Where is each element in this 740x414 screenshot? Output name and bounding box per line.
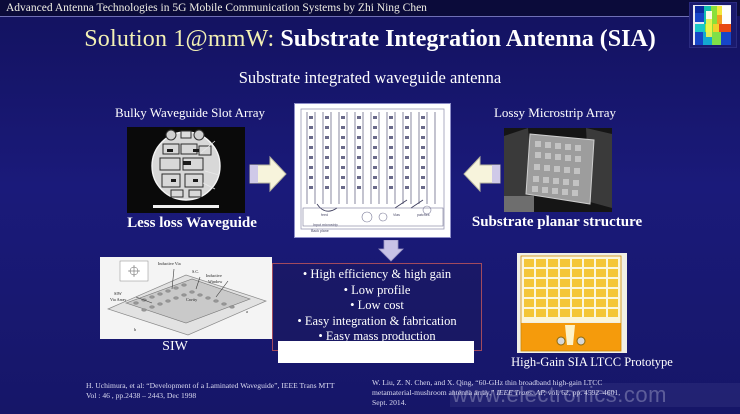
- svg-text:SIW: SIW: [114, 291, 122, 296]
- svg-text:feed: feed: [321, 213, 328, 217]
- page-title: Solution 1@mmW: Substrate Integration An…: [0, 26, 740, 53]
- caption-lossy-microstrip: Lossy Microstrip Array: [440, 105, 670, 121]
- white-placeholder-bar: [278, 341, 474, 363]
- watermark: www.electronics.com: [452, 382, 740, 408]
- svg-text:Cavity: Cavity: [186, 297, 198, 302]
- caption-less-loss-waveguide: Less loss Waveguide: [72, 215, 312, 232]
- image-siw-3d-diagram: Inductive Via SIW Via Array Inductive Wi…: [100, 257, 272, 339]
- svg-text:Inductive: Inductive: [206, 273, 222, 278]
- title-part-solution: Solution 1@mmW:: [84, 26, 274, 52]
- svg-text:Window: Window: [208, 279, 222, 284]
- caption-ltcc-prototype: High-Gain SIA LTCC Prototype: [482, 355, 702, 370]
- subtitle: Substrate integrated waveguide antenna: [0, 68, 740, 88]
- caption-bulky-waveguide: Bulky Waveguide Slot Array: [75, 105, 305, 121]
- image-siw-antenna-layout: feed Input microstrip Back plane Vias pa…: [294, 103, 451, 238]
- svg-text:Input microstrip: Input microstrip: [313, 223, 338, 227]
- svg-text:S.C.: S.C.: [192, 269, 199, 274]
- image-ltcc-prototype: [517, 253, 627, 353]
- arrow-left-icon: [462, 155, 502, 198]
- list-item: Low cost: [273, 298, 481, 314]
- svg-text:b: b: [134, 327, 136, 332]
- svg-text:a: a: [246, 309, 248, 314]
- caption-siw: SIW: [110, 339, 240, 355]
- list-item: High efficiency & high gain: [273, 267, 481, 283]
- advantages-box: High efficiency & high gain Low profile …: [272, 263, 482, 351]
- advantages-list: High efficiency & high gain Low profile …: [273, 267, 481, 345]
- svg-text:Back plane: Back plane: [311, 229, 329, 233]
- breadcrumb: Advanced Antenna Technologies in 5G Mobi…: [6, 0, 666, 16]
- reference-left: H. Uchimura, et al: “Development of a La…: [86, 381, 336, 401]
- image-microstrip-patch-array: [504, 128, 612, 212]
- svg-text:Via Array: Via Array: [110, 297, 127, 302]
- caption-substrate-planar-structure: Substrate planar structure: [432, 214, 682, 231]
- list-item: Low profile: [273, 283, 481, 299]
- header-divider: [0, 16, 690, 17]
- slide-canvas: Advanced Antenna Technologies in 5G Mobi…: [0, 0, 740, 414]
- arrow-right-icon: [248, 155, 288, 198]
- svg-text:Vias: Vias: [393, 213, 400, 217]
- svg-text:Inductive Via: Inductive Via: [158, 261, 181, 266]
- list-item: Easy integration & fabrication: [273, 314, 481, 330]
- image-waveguide-slot-array: [127, 127, 245, 213]
- title-part-main: Substrate Integration Antenna (SIA): [280, 26, 655, 52]
